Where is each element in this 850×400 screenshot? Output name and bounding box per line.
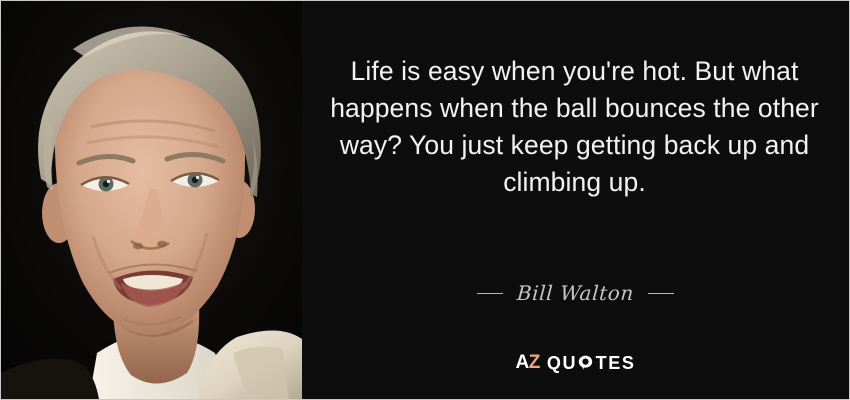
portrait-image bbox=[1, 1, 302, 399]
quote-card: Life is easy when you're hot. But what h… bbox=[0, 0, 850, 400]
quote-text: Life is easy when you're hot. But what h… bbox=[320, 53, 829, 201]
logo-quotes-part-2: TES bbox=[596, 354, 636, 372]
azquotes-logo[interactable]: AZ QU TES bbox=[302, 353, 849, 372]
attribution: Bill Walton bbox=[302, 281, 849, 305]
logo-quotes-word: QU TES bbox=[547, 354, 636, 372]
author-portrait bbox=[1, 1, 302, 399]
logo-letter-a: A bbox=[516, 352, 529, 373]
attribution-rule-right bbox=[648, 293, 674, 294]
logo-letter-z: Z bbox=[529, 352, 540, 373]
logo-az-mark: AZ bbox=[516, 353, 540, 372]
author-name: Bill Walton bbox=[516, 281, 635, 305]
speech-bubble-icon bbox=[578, 355, 593, 370]
attribution-rule-left bbox=[477, 293, 503, 294]
quote-panel: Life is easy when you're hot. But what h… bbox=[302, 1, 849, 399]
logo-quotes-part-1: QU bbox=[547, 354, 577, 372]
